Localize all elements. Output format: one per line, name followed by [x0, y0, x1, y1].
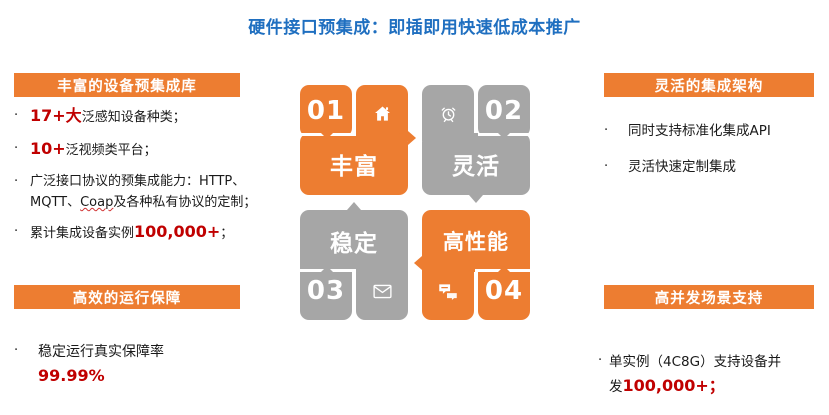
bullet-list-bottom-right: · 单实例（4C8G）支持设备并发100,000+； [598, 350, 829, 409]
quadrant-03-number: 03 [307, 276, 345, 306]
bullet-text: 广泛接口协议的预集成能力：HTTP、MQTT、Coap及各种私有协议的定制； [30, 171, 286, 213]
bullet-list-top-right: · 同时支持标准化集成API · 灵活快速定制集成 [604, 120, 824, 188]
panel-header-top-left: 丰富的设备预集成库 [14, 73, 240, 97]
bullet-text: 灵活快速定制集成 [628, 156, 824, 178]
house-icon [373, 104, 392, 123]
bullet-highlight: 100,000+； [623, 376, 725, 395]
list-item: · 稳定运行真实保障率99.99% [14, 340, 286, 389]
bullet-text: 10+泛视频类平台； [30, 138, 286, 161]
bullet-list-top-left: · 17+大泛感知设备种类； · 10+泛视频类平台； · 广泛接口协议的预集成… [14, 105, 286, 254]
separator [353, 269, 356, 320]
bullet-rest: 泛视频类平台； [66, 143, 157, 158]
panel-header-bottom-left-label: 高效的运行保障 [73, 287, 182, 308]
quadrant-03[interactable]: 稳定 03 [300, 210, 408, 320]
list-item: · 10+泛视频类平台； [14, 138, 286, 161]
quadrant-04-icon-cell [422, 262, 474, 320]
bullet-marker: · [14, 105, 30, 126]
bullet-text: 17+大泛感知设备种类； [30, 105, 286, 128]
quadrant-02-label: 灵活 [452, 147, 500, 181]
bullet-rest: 泛感知设备种类； [82, 110, 186, 125]
quadrant-01[interactable]: 01 丰富 [300, 85, 408, 195]
quadrant-02-flow-arrow [469, 195, 483, 203]
bullet-marker: · [598, 350, 609, 371]
bullet-text: 稳定运行真实保障率99.99% [38, 340, 286, 389]
bullet-tail: ； [220, 226, 233, 241]
bullet-highlight: 100,000+ [134, 222, 220, 241]
bullet-marker: · [604, 120, 628, 141]
panel-header-bottom-right-label: 高并发场景支持 [655, 287, 764, 308]
quadrant-02-label-tile[interactable]: 灵活 [422, 133, 530, 195]
quadrant-04-label: 高性能 [443, 226, 509, 256]
panel-header-bottom-left: 高效的运行保障 [14, 285, 240, 309]
quadrant-02-number-badge[interactable]: 02 [478, 85, 530, 137]
bullet-list-bottom-left: · 稳定运行真实保障率99.99% [14, 340, 286, 399]
list-item: · 单实例（4C8G）支持设备并发100,000+； [598, 350, 829, 399]
alarm-clock-icon [439, 104, 458, 123]
separator [475, 85, 478, 133]
bullet-marker: · [14, 138, 30, 159]
list-item: · 广泛接口协议的预集成能力：HTTP、MQTT、Coap及各种私有协议的定制； [14, 171, 286, 213]
quadrant-04-number: 04 [485, 276, 523, 306]
bullet-text: 同时支持标准化集成API [628, 120, 824, 142]
quadrant-01-label-tile[interactable]: 丰富 [300, 133, 408, 195]
panel-header-top-right-label: 灵活的集成架构 [655, 75, 764, 96]
bullet-rest: 稳定运行真实保障率 [38, 344, 164, 360]
bullet-text: 累计集成设备实例100,000+； [30, 221, 286, 244]
bullet-highlight: 10+ [30, 139, 66, 158]
spellcheck-word: Coap [80, 195, 113, 210]
list-item: · 17+大泛感知设备种类； [14, 105, 286, 128]
quadrant-03-notch [321, 266, 333, 272]
quadrant-01-number: 01 [307, 96, 345, 126]
quadrant-02-number: 02 [485, 96, 523, 126]
quadrant-01-label: 丰富 [330, 147, 378, 181]
page-title: 硬件接口预集成：即插即用快速低成本推广 [0, 13, 829, 38]
bullet-highlight: 17+大 [30, 106, 82, 125]
chat-bubble-icon [438, 283, 458, 300]
quadrant-01-number-badge[interactable]: 01 [300, 85, 352, 137]
quadrant-03-flow-arrow [347, 202, 361, 210]
quadrant-04-flow-arrow [414, 256, 422, 270]
quadrant-01-flow-arrow [408, 131, 416, 145]
panel-header-top-left-label: 丰富的设备预集成库 [57, 75, 197, 96]
quadrant-diagram: 01 丰富 [300, 85, 530, 320]
panel-header-top-right: 灵活的集成架构 [604, 73, 814, 97]
bullet-rest: 单实例（4C8G）支持设备并 [609, 354, 781, 370]
bullet-text: 单实例（4C8G）支持设备并发100,000+； [609, 350, 829, 399]
bullet-marker: · [14, 221, 30, 242]
quadrant-04[interactable]: 高性能 04 [422, 210, 530, 320]
quadrant-02-notch [498, 133, 510, 139]
quadrant-03-label: 稳定 [330, 224, 378, 258]
quadrant-04-notch [498, 266, 510, 272]
list-item: · 灵活快速定制集成 [604, 156, 824, 178]
list-item: · 同时支持标准化集成API [604, 120, 824, 142]
bullet-marker: · [14, 340, 38, 361]
bullet-second-pre: 发 [609, 379, 623, 395]
quadrant-01-notch [321, 133, 333, 139]
bullet-marker: · [604, 156, 628, 177]
list-item: · 累计集成设备实例100,000+； [14, 221, 286, 244]
bullet-highlight: 99.99% [38, 366, 105, 385]
panel-header-bottom-right: 高并发场景支持 [604, 285, 814, 309]
bullet-rest: 累计集成设备实例 [30, 226, 134, 241]
separator [353, 85, 356, 133]
quadrant-02[interactable]: 02 灵活 [422, 85, 530, 195]
envelope-icon [373, 284, 392, 299]
separator [475, 269, 478, 320]
bullet-marker: · [14, 171, 30, 192]
quadrant-03-icon-cell [356, 262, 408, 320]
